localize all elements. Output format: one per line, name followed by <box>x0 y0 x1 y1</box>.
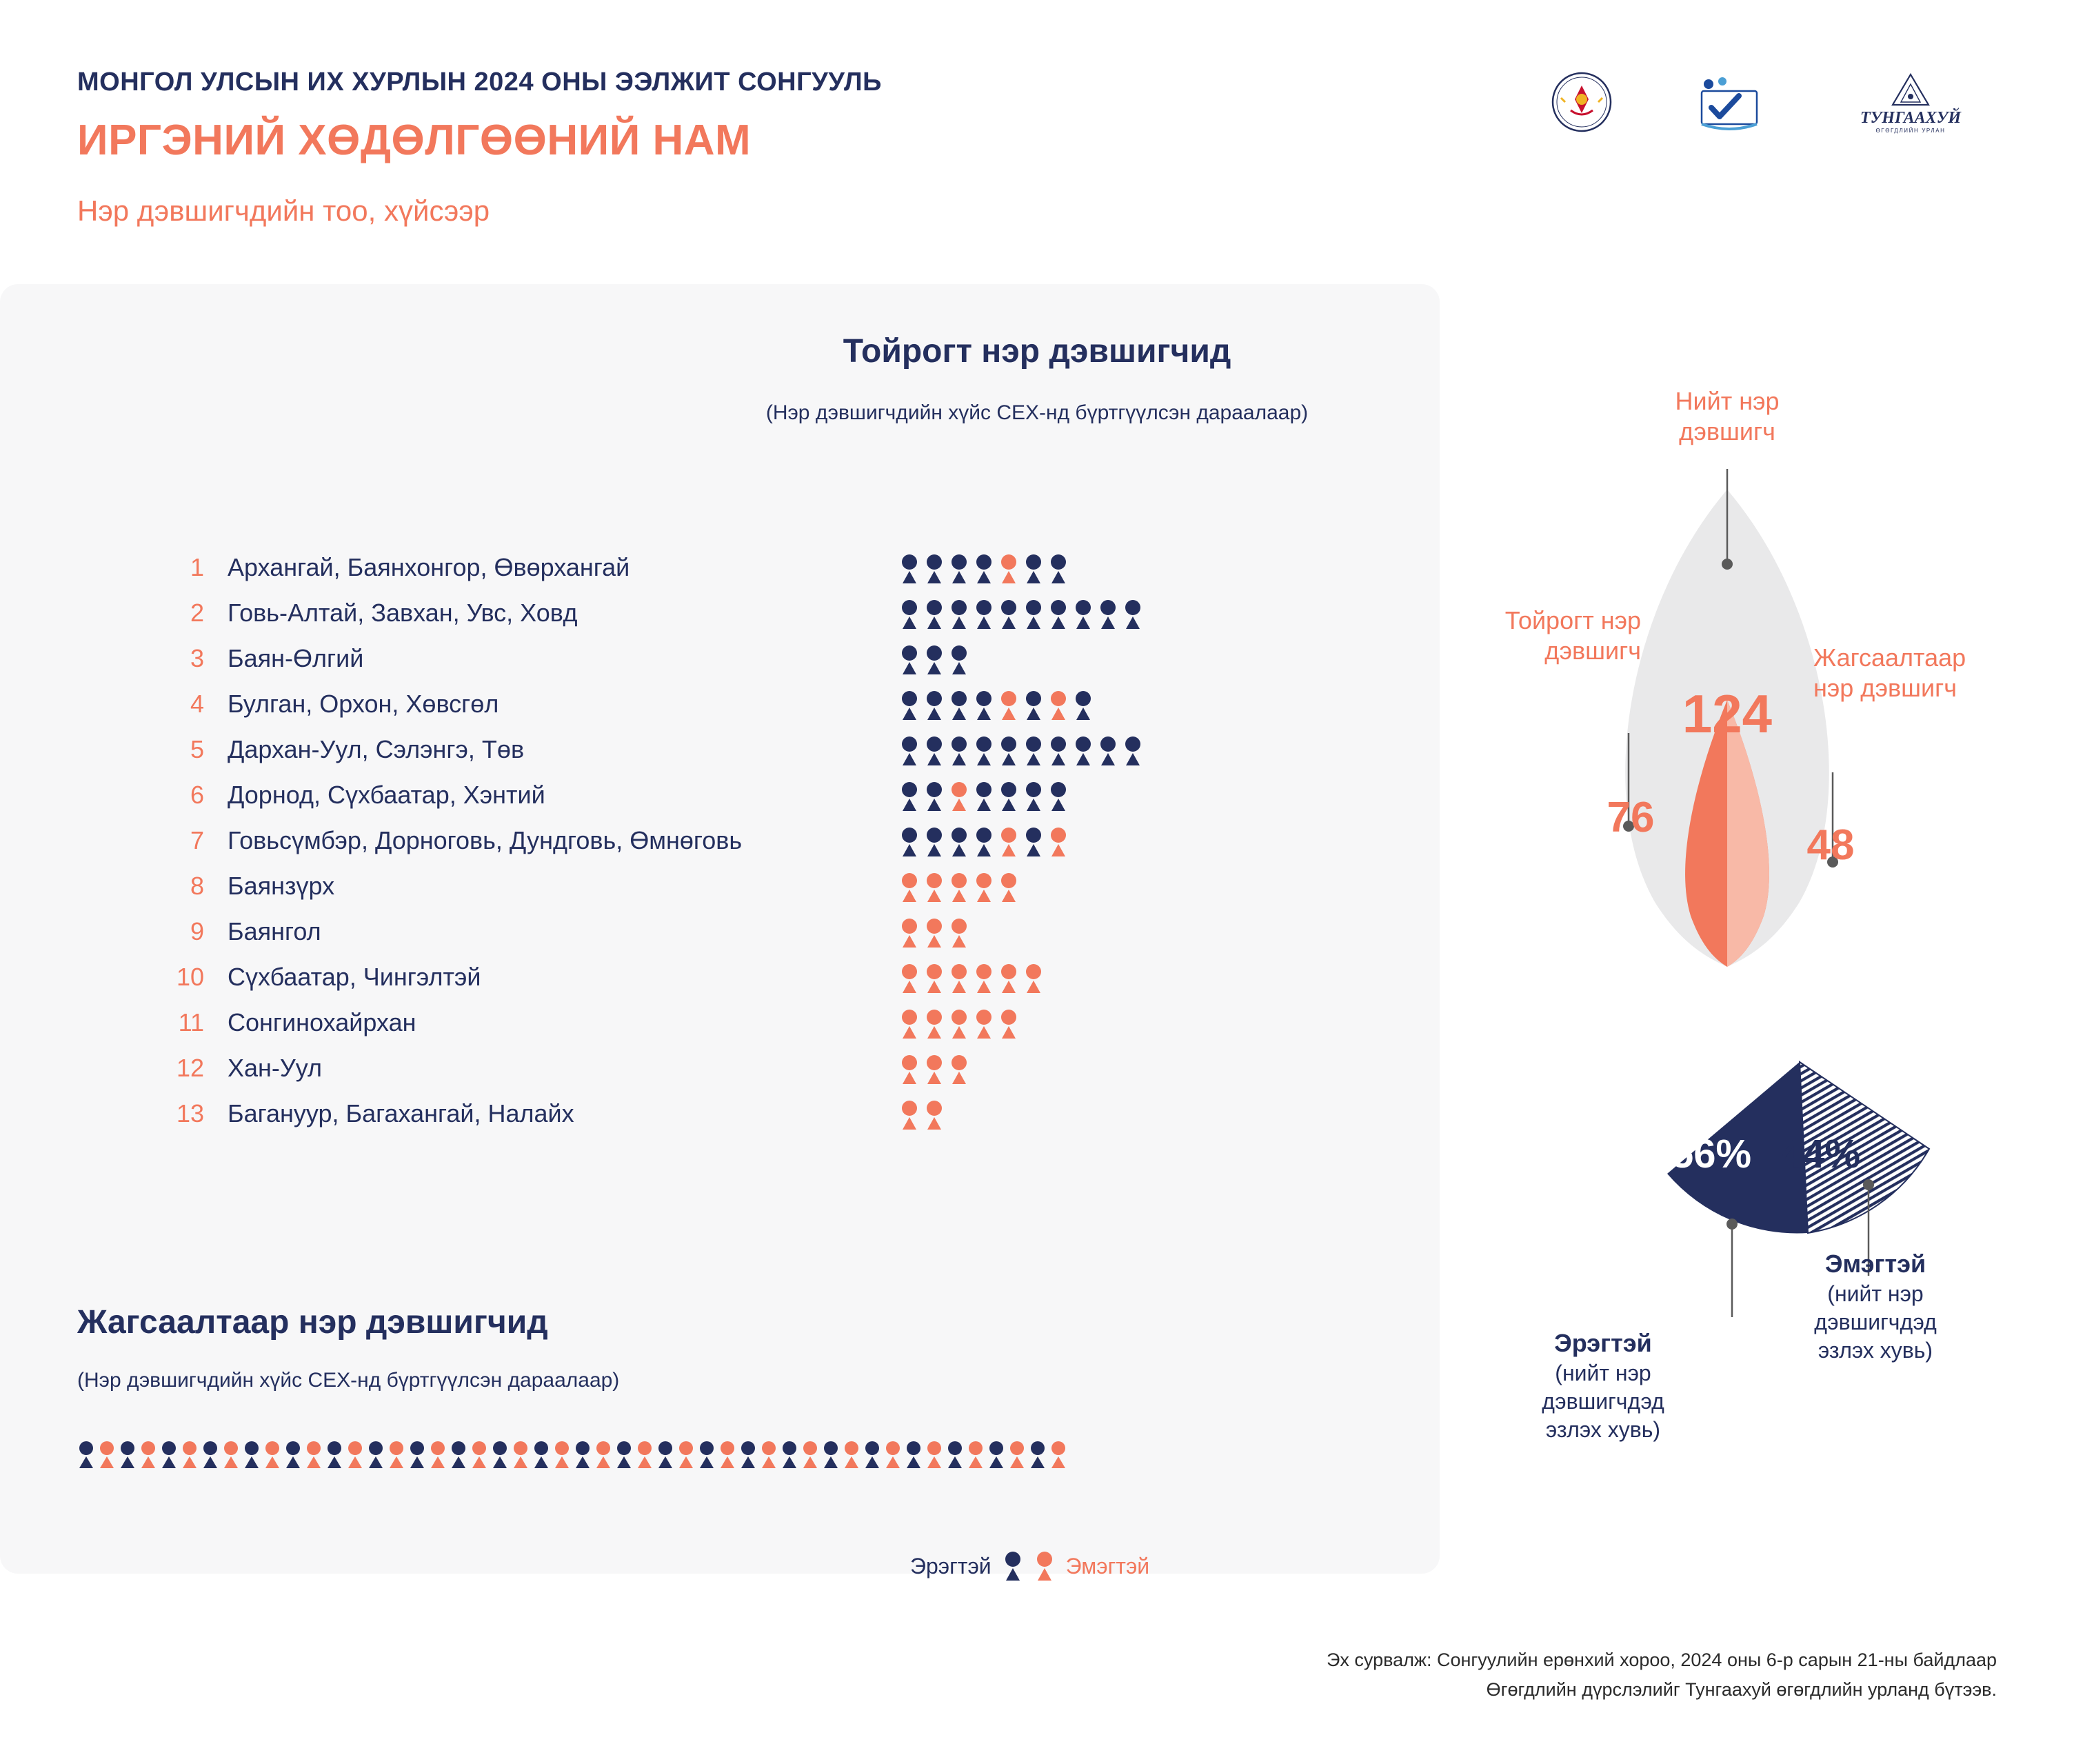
person-male-icon <box>284 1441 302 1469</box>
svg-text:ТУНГААХУЙ: ТУНГААХУЙ <box>1860 108 1962 127</box>
person-female-icon <box>222 1441 240 1469</box>
pie-female-label: Эмэгтэй (нийт нэр дэвшигчдэд эзлэх хувь) <box>1765 1248 1986 1365</box>
person-male-icon <box>822 1441 840 1469</box>
page-header: МОНГОЛ УЛСЫН ИХ ХУРЛЫН 2024 ОНЫ ЭЭЛЖИТ С… <box>0 0 2074 276</box>
person-female-icon <box>512 1441 530 1469</box>
constituency-pictogram <box>899 916 969 948</box>
legend-female-label: Эмэгтэй <box>1066 1554 1150 1579</box>
person-male-icon <box>325 1441 343 1469</box>
person-female-icon <box>949 964 969 993</box>
constituency-number: 4 <box>165 690 210 719</box>
person-male-icon <box>1073 600 1094 629</box>
person-female-icon <box>594 1441 612 1469</box>
person-male-icon <box>367 1441 385 1469</box>
person-male-icon <box>949 645 969 674</box>
person-male-icon <box>781 1441 798 1469</box>
person-male-icon <box>1048 782 1069 811</box>
person-male-icon <box>899 782 920 811</box>
person-male-icon <box>899 736 920 765</box>
teardrop-chart: Нийт нэр дэвшигч Тойрогт нэр дэвшигч Жаг… <box>1455 386 2055 1145</box>
person-male-icon <box>974 554 994 583</box>
person-female-icon <box>899 873 920 902</box>
constituency-name: Баян-Өлгий <box>210 644 899 673</box>
constituency-pictogram <box>899 961 1044 993</box>
person-male-icon <box>863 1441 881 1469</box>
person-male-icon <box>408 1441 426 1469</box>
person-male-icon <box>1029 1441 1047 1469</box>
person-male-icon <box>974 600 994 629</box>
person-male-icon <box>899 645 920 674</box>
constituency-number: 10 <box>165 963 210 992</box>
person-male-icon <box>946 1441 964 1469</box>
page-subtitle: Нэр дэвшигчдийн тоо, хүйсээр <box>77 194 490 228</box>
constituency-row: 4Булган, Орхон, Хөвсгөл <box>165 681 1241 727</box>
person-male-icon <box>77 1441 95 1469</box>
person-female-icon <box>974 964 994 993</box>
person-female-icon <box>387 1441 405 1469</box>
person-female-icon <box>998 828 1019 856</box>
person-male-icon <box>974 736 994 765</box>
person-female-icon <box>998 1010 1019 1039</box>
constituency-number: 8 <box>165 872 210 901</box>
constituency-panel-title: Тойрогт нэр дэвшигчид <box>0 332 2074 370</box>
person-male-icon <box>1048 554 1069 583</box>
person-male-icon <box>899 691 920 720</box>
constituency-row: 9Баянгол <box>165 909 1241 954</box>
person-female-icon <box>924 873 945 902</box>
person-male-icon <box>532 1441 550 1469</box>
constituency-pictogram <box>899 597 1143 629</box>
person-male-icon <box>924 828 945 856</box>
person-male-icon <box>949 600 969 629</box>
party-list-title: Жагсаалтаар нэр дэвшигчид <box>77 1303 548 1341</box>
constituency-name: Дархан-Уул, Сэлэнгэ, Төв <box>210 735 899 764</box>
person-male-icon <box>1048 600 1069 629</box>
person-female-icon <box>1048 691 1069 720</box>
constituency-name: Хан-Уул <box>210 1054 899 1083</box>
constituency-row: 3Баян-Өлгий <box>165 636 1241 681</box>
person-female-icon <box>139 1441 157 1469</box>
person-male-icon <box>1023 600 1044 629</box>
person-male-icon <box>1098 736 1118 765</box>
person-female-icon <box>998 964 1019 993</box>
person-male-icon <box>899 600 920 629</box>
person-female-icon <box>1049 1441 1067 1469</box>
constituency-number: 11 <box>165 1008 210 1037</box>
person-male-icon <box>949 736 969 765</box>
constituency-name: Говь-Алтай, Завхан, Увс, Ховд <box>210 599 899 628</box>
constituency-number: 2 <box>165 599 210 628</box>
constituency-number: 3 <box>165 644 210 673</box>
constituency-row: 6Дорнод, Сүхбаатар, Хэнтий <box>165 772 1241 818</box>
constituency-number: 13 <box>165 1099 210 1128</box>
constituency-name: Говьсүмбэр, Дорноговь, Дундговь, Өмнөгов… <box>210 826 899 855</box>
person-male-icon <box>656 1441 674 1469</box>
person-female-icon <box>924 1101 945 1130</box>
person-female-icon <box>949 782 969 811</box>
constituency-pictogram <box>899 643 969 674</box>
person-male-icon <box>1073 736 1094 765</box>
constituency-row: 8Баянзүрх <box>165 863 1241 909</box>
person-female-icon <box>677 1441 695 1469</box>
person-female-icon <box>974 1010 994 1039</box>
constituency-pictogram <box>899 1007 1019 1039</box>
person-female-icon <box>305 1441 323 1469</box>
person-female-icon <box>801 1441 819 1469</box>
person-male-icon <box>1122 736 1143 765</box>
person-female-icon <box>899 964 920 993</box>
person-male-icon <box>201 1441 219 1469</box>
person-female-icon <box>470 1441 488 1469</box>
constituency-number: 9 <box>165 917 210 946</box>
person-female-icon <box>429 1441 447 1469</box>
person-female-icon <box>346 1441 364 1469</box>
person-female-icon <box>1023 964 1044 993</box>
constituency-list: 1Архангай, Баянхонгор, Өвөрхангай2Говь-А… <box>165 545 1241 1136</box>
person-female-icon <box>884 1441 902 1469</box>
constituency-name: Баянзүрх <box>210 872 899 901</box>
person-female-icon <box>1034 1552 1055 1581</box>
women-fund-logo-icon <box>1672 62 1786 145</box>
constituency-name: Архангай, Баянхонгор, Өвөрхангай <box>210 553 899 582</box>
person-female-icon <box>98 1441 116 1469</box>
person-male-icon <box>924 691 945 720</box>
person-male-icon <box>899 554 920 583</box>
constituency-row: 1Архангай, Баянхонгор, Өвөрхангай <box>165 545 1241 590</box>
person-male-icon <box>905 1441 923 1469</box>
constituency-name: Баянгол <box>210 917 899 946</box>
person-male-icon <box>974 828 994 856</box>
legend: Эрэгтэй Эмэгтэй <box>910 1552 1149 1581</box>
person-female-icon <box>181 1441 199 1469</box>
constituency-number: 7 <box>165 826 210 855</box>
person-female-icon <box>924 1055 945 1084</box>
constituency-row: 11Сонгинохайрхан <box>165 1000 1241 1045</box>
constituency-number: 5 <box>165 735 210 764</box>
person-female-icon <box>998 873 1019 902</box>
constituency-row: 12Хан-Уул <box>165 1045 1241 1091</box>
election-kicker: МОНГОЛ УЛСЫН ИХ ХУРЛЫН 2024 ОНЫ ЭЭЛЖИТ С… <box>77 68 882 97</box>
person-female-icon <box>718 1441 736 1469</box>
constituency-number: 12 <box>165 1054 210 1083</box>
source-line-1: Эх сурвалж: Сонгуулийн ерөнхий хороо, 20… <box>1327 1645 1997 1675</box>
person-male-icon <box>739 1441 757 1469</box>
person-male-icon <box>998 736 1019 765</box>
constituency-name: Дорнод, Сүхбаатар, Хэнтий <box>210 781 899 810</box>
tungaakhui-logo-icon: ТУНГААХУЙ ӨГӨГДЛИЙН УРЛАН <box>1824 62 1997 145</box>
person-female-icon <box>925 1441 943 1469</box>
person-male-icon <box>998 600 1019 629</box>
gec-logo-icon <box>1530 62 1633 145</box>
constituency-pictogram <box>899 1052 969 1084</box>
person-male-icon <box>924 554 945 583</box>
constituency-name: Сүхбаатар, Чингэлтэй <box>210 963 899 992</box>
person-male-icon <box>160 1441 178 1469</box>
person-female-icon <box>899 1055 920 1084</box>
logo-group: ТУНГААХУЙ ӨГӨГДЛИЙН УРЛАН <box>1530 62 1997 145</box>
person-female-icon <box>949 919 969 948</box>
constituency-pictogram <box>899 825 1069 856</box>
person-male-icon <box>949 691 969 720</box>
person-male-icon <box>1023 828 1044 856</box>
constituency-candidates-value: 76 <box>1579 793 1682 842</box>
person-female-icon <box>924 964 945 993</box>
person-male-icon <box>243 1441 261 1469</box>
person-male-icon <box>1073 691 1094 720</box>
person-male-icon <box>1098 600 1118 629</box>
page-title: ИРГЭНИЙ ХӨДӨЛГӨӨНИЙ НАМ <box>77 116 751 165</box>
person-female-icon <box>998 691 1019 720</box>
person-male-icon <box>1122 600 1143 629</box>
person-male-icon <box>974 782 994 811</box>
constituency-row: 10Сүхбаатар, Чингэлтэй <box>165 954 1241 1000</box>
party-list-subtitle: (Нэр дэвшигчдийн хүйс СЕХ-нд бүртгүүлсэн… <box>77 1369 619 1392</box>
party-list-pictogram <box>77 1441 1387 1469</box>
person-female-icon <box>967 1441 985 1469</box>
person-female-icon <box>974 873 994 902</box>
person-male-icon <box>924 600 945 629</box>
source-line-2: Өгөгдлийн дүрслэлийг Тунгаахуй өгөгдлийн… <box>1327 1675 1997 1705</box>
person-female-icon <box>899 1010 920 1039</box>
teardrop-constituency-label: Тойрогт нэр дэвшигч <box>1427 605 1641 666</box>
constituency-pictogram <box>899 779 1069 811</box>
person-male-icon <box>974 691 994 720</box>
person-female-icon <box>924 919 945 948</box>
teardrop-total-label: Нийт нэр дэвшигч <box>1627 386 1827 447</box>
person-male-icon <box>615 1441 633 1469</box>
person-male-icon <box>998 782 1019 811</box>
constituency-pictogram <box>899 734 1143 765</box>
pie-male-label: Эрэгтэй (нийт нэр дэвшигчдэд эзлэх хувь) <box>1503 1327 1703 1444</box>
person-female-icon <box>553 1441 571 1469</box>
teardrop-partylist-label: Жагсаалтаар нэр дэвшигч <box>1813 643 2041 703</box>
constituency-row: 5Дархан-Уул, Сэлэнгэ, Төв <box>165 727 1241 772</box>
person-female-icon <box>998 554 1019 583</box>
constituency-pictogram <box>899 870 1019 902</box>
constituency-row: 13Багануур, Багахангай, Налайх <box>165 1091 1241 1136</box>
constituency-name: Багануур, Багахангай, Налайх <box>210 1099 899 1128</box>
person-female-icon <box>1008 1441 1026 1469</box>
person-male-icon <box>450 1441 467 1469</box>
partylist-candidates-value: 48 <box>1779 821 1882 870</box>
legend-male-label: Эрэгтэй <box>910 1554 991 1579</box>
person-male-icon <box>899 828 920 856</box>
person-male-icon <box>1023 691 1044 720</box>
person-male-icon <box>1048 736 1069 765</box>
person-female-icon <box>263 1441 281 1469</box>
person-male-icon <box>1003 1552 1023 1581</box>
person-male-icon <box>924 736 945 765</box>
constituency-pictogram <box>899 552 1069 583</box>
constituency-number: 6 <box>165 781 210 810</box>
person-female-icon <box>924 1010 945 1039</box>
constituency-name: Сонгинохайрхан <box>210 1008 899 1037</box>
person-female-icon <box>636 1441 654 1469</box>
person-female-icon <box>949 1055 969 1084</box>
person-male-icon <box>574 1441 592 1469</box>
person-male-icon <box>1023 782 1044 811</box>
person-female-icon <box>899 919 920 948</box>
person-male-icon <box>924 782 945 811</box>
person-male-icon <box>698 1441 716 1469</box>
constituency-pictogram <box>899 1098 945 1130</box>
constituency-pictogram <box>899 688 1094 720</box>
person-female-icon <box>899 1101 920 1130</box>
person-female-icon <box>760 1441 778 1469</box>
female-percent-value: 44% <box>1765 1131 1875 1177</box>
person-female-icon <box>1048 828 1069 856</box>
constituency-number: 1 <box>165 553 210 582</box>
person-male-icon <box>1023 736 1044 765</box>
person-female-icon <box>949 1010 969 1039</box>
person-male-icon <box>949 554 969 583</box>
constituency-name: Булган, Орхон, Хөвсгөл <box>210 690 899 719</box>
person-female-icon <box>949 873 969 902</box>
person-male-icon <box>949 828 969 856</box>
person-male-icon <box>924 645 945 674</box>
person-male-icon <box>119 1441 137 1469</box>
person-male-icon <box>1023 554 1044 583</box>
person-female-icon <box>843 1441 860 1469</box>
person-male-icon <box>987 1441 1005 1469</box>
person-male-icon <box>491 1441 509 1469</box>
total-candidates-value: 124 <box>1655 683 1800 745</box>
constituency-row: 2Говь-Алтай, Завхан, Увс, Ховд <box>165 590 1241 636</box>
male-percent-value: 56% <box>1656 1131 1766 1177</box>
svg-text:ӨГӨГДЛИЙН УРЛАН: ӨГӨГДЛИЙН УРЛАН <box>1875 128 1945 134</box>
source-note: Эх сурвалж: Сонгуулийн ерөнхий хороо, 20… <box>1327 1645 1997 1705</box>
constituency-row: 7Говьсүмбэр, Дорноговь, Дундговь, Өмнөго… <box>165 818 1241 863</box>
